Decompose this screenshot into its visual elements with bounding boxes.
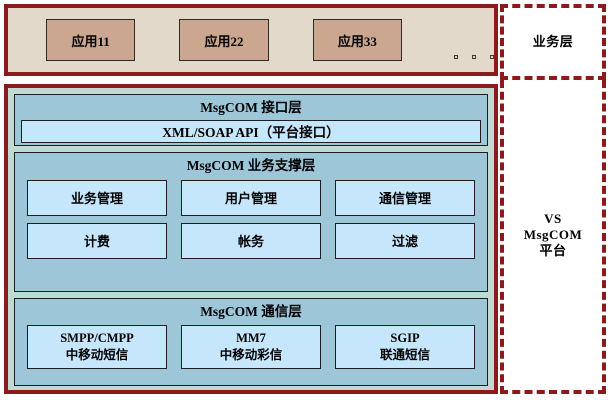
comm-channel-smpp-cmpp-network: 中移动短信 xyxy=(66,347,129,364)
msgcom-business-support-layer: MsgCOM 业务支撑层 业务管理 用户管理 通信管理 计费 帐务 过滤 xyxy=(14,152,488,292)
annotation-column: 业务层 VS MsgCOM 平台 xyxy=(500,4,606,394)
ellipsis-dots-icon xyxy=(454,17,494,63)
communication-channel-grid: SMPP/CMPP 中移动短信 MM7 中移动彩信 SGIP 联通短信 xyxy=(21,324,481,369)
support-cell-communication-management-label: 通信管理 xyxy=(379,188,431,207)
ellipsis-dot-3 xyxy=(490,55,494,59)
support-cell-billing[interactable]: 计费 xyxy=(27,223,167,259)
annotation-platform-line-2: MsgCOM xyxy=(524,227,583,243)
msgcom-interface-layer-title: MsgCOM 接口层 xyxy=(21,99,481,120)
support-cell-filtering[interactable]: 过滤 xyxy=(335,223,475,259)
comm-channel-mm7-protocol: MM7 xyxy=(236,330,266,347)
support-cell-business-management-label: 业务管理 xyxy=(71,188,123,207)
annotation-business-layer-label: 业务层 xyxy=(533,34,574,50)
application-layer-container: 应用11 应用22 应用33 xyxy=(4,4,498,76)
msgcom-communication-layer: MsgCOM 通信层 SMPP/CMPP 中移动短信 MM7 中移动彩信 SGI… xyxy=(14,298,488,386)
annotation-platform-line-1: VS xyxy=(524,211,583,227)
comm-channel-sgip-network: 联通短信 xyxy=(380,347,430,364)
annotation-business-layer: 业务层 xyxy=(500,4,606,80)
xml-soap-api-label: XML/SOAP API（平台接口） xyxy=(162,121,339,141)
application-box-3[interactable]: 应用33 xyxy=(313,19,402,61)
business-support-cell-grid: 业务管理 用户管理 通信管理 计费 帐务 过滤 xyxy=(21,178,481,259)
support-cell-filtering-label: 过滤 xyxy=(392,231,418,250)
comm-channel-mm7-network: 中移动彩信 xyxy=(220,347,283,364)
support-cell-accounting[interactable]: 帐务 xyxy=(181,223,321,259)
comm-channel-smpp-cmpp[interactable]: SMPP/CMPP 中移动短信 xyxy=(27,325,167,369)
support-cell-user-management-label: 用户管理 xyxy=(225,188,277,207)
comm-channel-sgip[interactable]: SGIP 联通短信 xyxy=(335,325,475,369)
ellipsis-dot-2 xyxy=(472,55,476,59)
annotation-vs-msgcom-platform-label: VS MsgCOM 平台 xyxy=(524,211,583,260)
support-cell-accounting-label: 帐务 xyxy=(238,231,264,250)
msgcom-communication-layer-title: MsgCOM 通信层 xyxy=(21,303,481,324)
annotation-platform-line-3: 平台 xyxy=(524,243,583,259)
support-cell-billing-label: 计费 xyxy=(84,231,110,250)
support-cell-business-management[interactable]: 业务管理 xyxy=(27,180,167,216)
ellipsis-dot-1 xyxy=(454,55,458,59)
application-box-2-label: 应用22 xyxy=(204,31,243,50)
application-box-2[interactable]: 应用22 xyxy=(179,19,268,61)
annotation-vs-msgcom-platform: VS MsgCOM 平台 xyxy=(500,80,606,394)
application-box-1-label: 应用11 xyxy=(72,31,110,50)
comm-channel-mm7[interactable]: MM7 中移动彩信 xyxy=(181,325,321,369)
msgcom-platform-container: MsgCOM 接口层 XML/SOAP API（平台接口） MsgCOM 业务支… xyxy=(4,84,498,394)
comm-channel-sgip-protocol: SGIP xyxy=(390,330,419,347)
msgcom-business-support-layer-title: MsgCOM 业务支撑层 xyxy=(21,157,481,178)
application-box-3-label: 应用33 xyxy=(338,31,377,50)
msgcom-interface-layer: MsgCOM 接口层 XML/SOAP API（平台接口） xyxy=(14,94,488,146)
support-cell-communication-management[interactable]: 通信管理 xyxy=(335,180,475,216)
application-box-1[interactable]: 应用11 xyxy=(46,19,135,61)
comm-channel-smpp-cmpp-protocol: SMPP/CMPP xyxy=(60,330,134,347)
xml-soap-api-box[interactable]: XML/SOAP API（平台接口） xyxy=(21,120,481,143)
application-box-row: 应用11 应用22 应用33 xyxy=(8,8,494,72)
support-cell-user-management[interactable]: 用户管理 xyxy=(181,180,321,216)
